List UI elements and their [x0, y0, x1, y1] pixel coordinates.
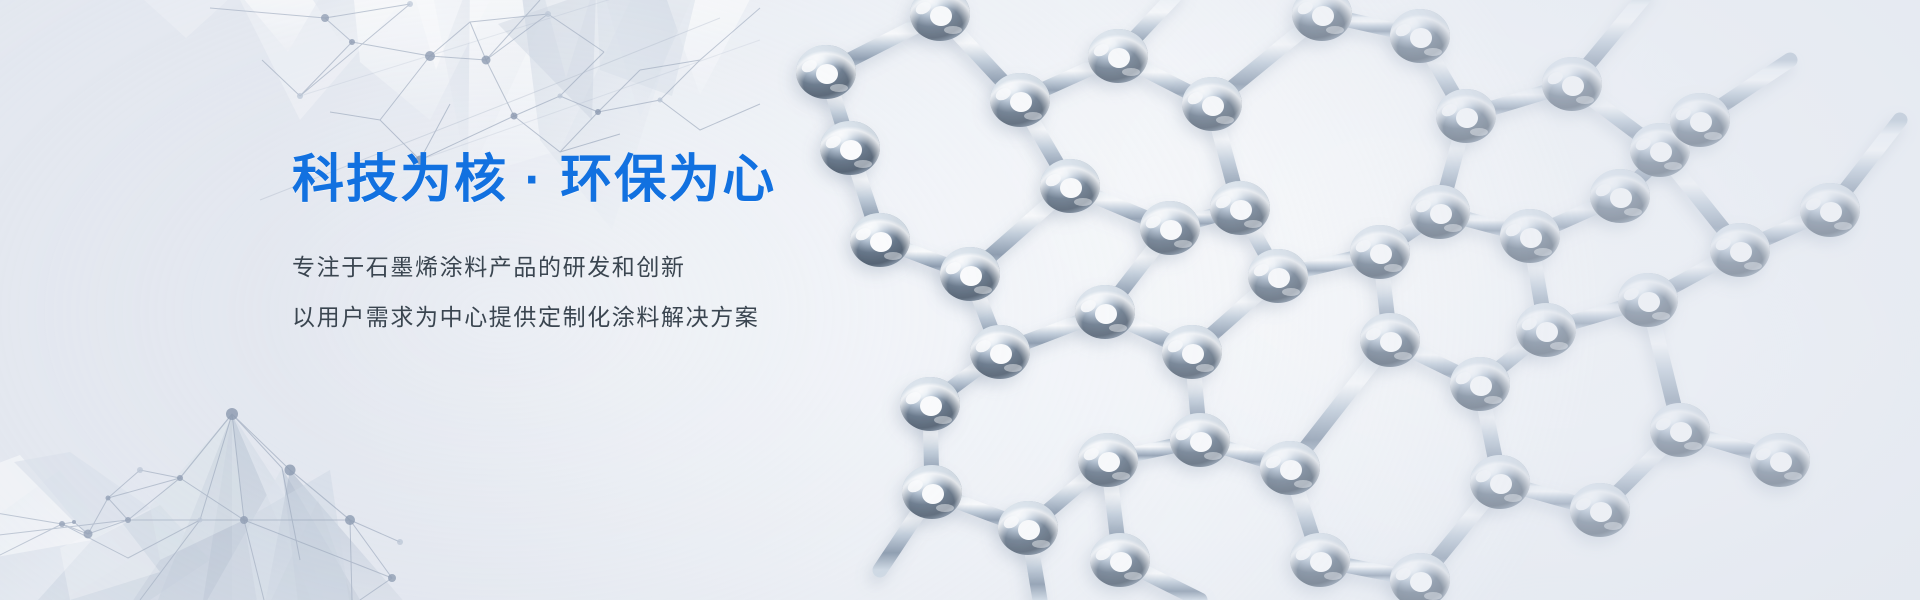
page-title: 科技为核 · 环保为心 — [292, 150, 1012, 211]
hero-copy: 科技为核 · 环保为心 专注于石墨烯涂料产品的研发和创新 以用户需求为中心提供定… — [292, 150, 1012, 334]
hero-subtitle-line-2: 以用户需求为中心提供定制化涂料解决方案 — [292, 301, 1012, 334]
hero-subtitle-group: 专注于石墨烯涂料产品的研发和创新 以用户需求为中心提供定制化涂料解决方案 — [292, 251, 1012, 334]
hero-banner: 科技为核 · 环保为心 专注于石墨烯涂料产品的研发和创新 以用户需求为中心提供定… — [0, 0, 1920, 600]
hero-subtitle-line-1: 专注于石墨烯涂料产品的研发和创新 — [292, 251, 1012, 284]
